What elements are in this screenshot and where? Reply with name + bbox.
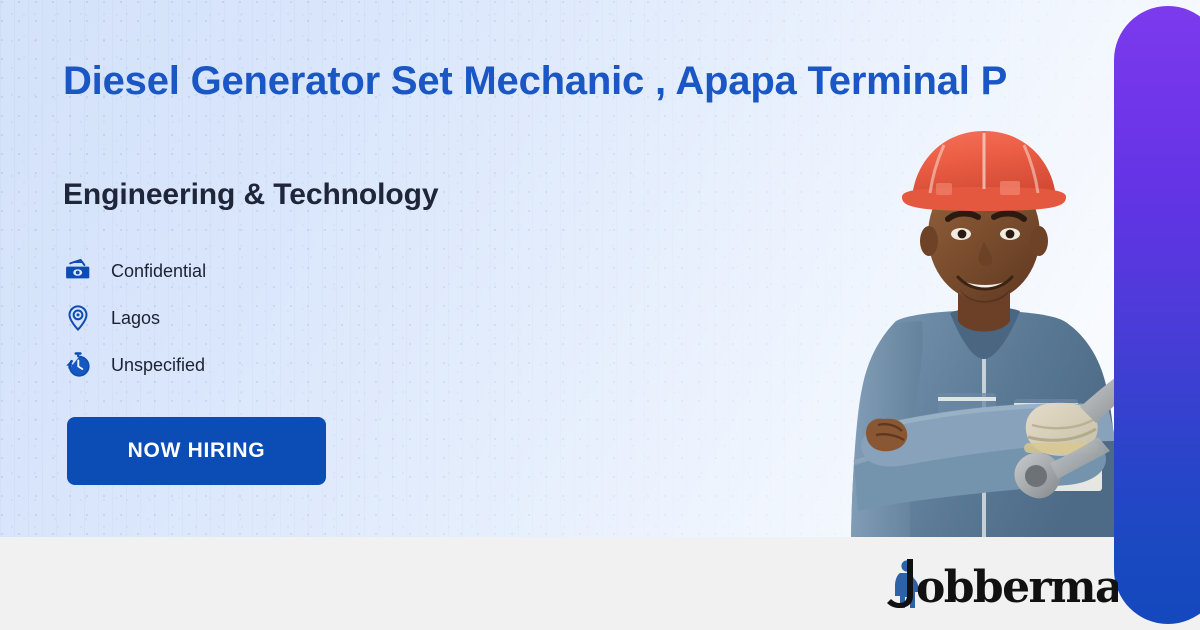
list-item: Confidential xyxy=(63,252,206,290)
accent-gradient-bar xyxy=(1114,6,1200,624)
mechanic-photo xyxy=(818,107,1148,537)
now-hiring-button[interactable]: NOW HIRING xyxy=(67,417,326,485)
job-ad-banner: Diesel Generator Set Mechanic , Apapa Te… xyxy=(0,0,1200,630)
job-meta-list: Confidential Lagos xyxy=(63,252,206,393)
list-item-label: Unspecified xyxy=(111,355,205,376)
list-item-label: Confidential xyxy=(111,261,206,282)
job-category: Engineering & Technology xyxy=(63,178,438,212)
location-pin-icon xyxy=(63,303,93,333)
page-title: Diesel Generator Set Mechanic , Apapa Te… xyxy=(63,58,1200,105)
cash-icon xyxy=(63,256,93,286)
list-item: Lagos xyxy=(63,299,206,337)
list-item: Unspecified xyxy=(63,346,206,384)
jobberman-logo[interactable]: obberman xyxy=(880,556,1118,608)
svg-text:obberman: obberman xyxy=(916,562,1118,608)
list-item-label: Lagos xyxy=(111,308,160,329)
stopwatch-icon xyxy=(63,350,93,380)
